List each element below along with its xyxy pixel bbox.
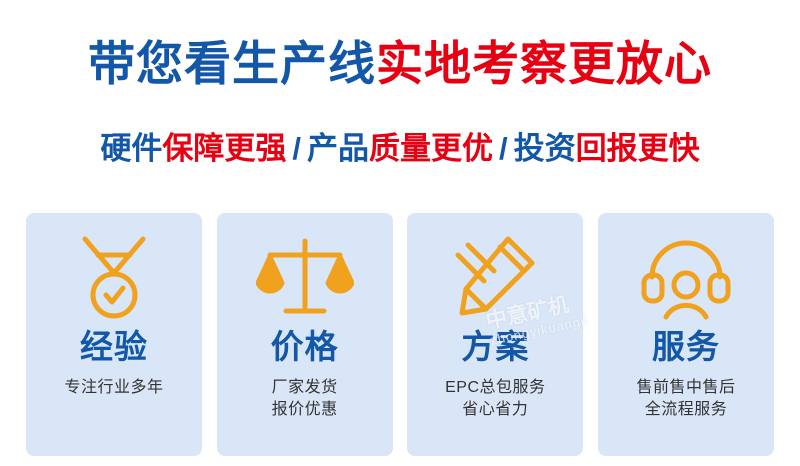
feature-card-desc-line: 售前售中售后: [636, 377, 735, 399]
headset-icon: [640, 231, 732, 323]
feature-card-desc: 售前售中售后 全流程服务: [636, 377, 735, 420]
feature-card-desc-line: 报价优惠: [272, 399, 338, 421]
medal-icon: [71, 231, 157, 323]
headline: 带您看生产线实地考察更放心: [0, 38, 800, 90]
subline-separator-2: /: [493, 131, 514, 166]
feature-card-title: 服务: [652, 329, 720, 365]
scales-icon: [256, 231, 354, 323]
subline: 硬件保障更强/产品质量更优/投资回报更快: [0, 130, 800, 167]
subline-item-3-highlight: 回报更快: [576, 131, 700, 166]
feature-card-list: 经验 专注行业多年 价格 厂家发货 报价优惠: [26, 213, 774, 456]
headline-part-2: 实地考察更放心: [376, 37, 712, 90]
feature-card-desc-line: 全流程服务: [636, 399, 735, 421]
feature-card-service[interactable]: 服务 售前售中售后 全流程服务: [598, 213, 774, 456]
subline-item-2-prefix: 产品: [307, 131, 369, 166]
subline-item-3-prefix: 投资: [514, 131, 576, 166]
headline-part-1: 带您看生产线: [88, 37, 376, 90]
feature-card-experience[interactable]: 经验 专注行业多年: [26, 213, 202, 456]
subline-item-1-highlight: 保障更强: [162, 131, 286, 166]
feature-card-price[interactable]: 价格 厂家发货 报价优惠: [217, 213, 393, 456]
feature-card-desc-line: EPC总包服务: [445, 377, 545, 399]
feature-card-title: 经验: [80, 329, 148, 365]
feature-card-desc: 专注行业多年: [64, 377, 163, 399]
feature-card-desc-line: 厂家发货: [272, 377, 338, 399]
promo-banner: 带您看生产线实地考察更放心 硬件保障更强/产品质量更优/投资回报更快 经验 专注…: [0, 0, 800, 466]
feature-card-solution[interactable]: 方案 EPC总包服务 省心省力: [407, 213, 583, 456]
feature-card-desc-line: 专注行业多年: [64, 377, 163, 399]
feature-card-title: 方案: [461, 329, 529, 365]
feature-card-desc: 厂家发货 报价优惠: [272, 377, 338, 420]
subline-separator-1: /: [286, 131, 307, 166]
feature-card-desc-line: 省心省力: [445, 399, 545, 421]
subline-item-2-highlight: 质量更优: [369, 131, 493, 166]
subline-item-1-prefix: 硬件: [100, 131, 162, 166]
pencil-ruler-icon: [448, 231, 542, 323]
feature-card-desc: EPC总包服务 省心省力: [445, 377, 545, 420]
feature-card-title: 价格: [271, 329, 339, 365]
